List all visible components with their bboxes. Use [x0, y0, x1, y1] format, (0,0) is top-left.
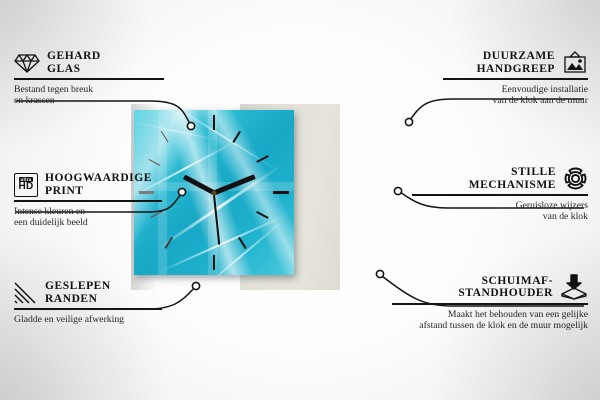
- feature-desc-line1: Eenvoudige installatie: [398, 84, 588, 95]
- leader-endpoint-schuimafstandhouder: [376, 270, 383, 277]
- feature-title: GEHARD: [47, 50, 101, 63]
- divider: [14, 200, 162, 202]
- feature-title: RANDEN: [45, 293, 111, 306]
- divider: [443, 78, 588, 80]
- feature-title: GESLEPEN: [45, 280, 111, 293]
- infographic-canvas: GEHARD GLAS Bestand tegen breuk en krass…: [0, 0, 600, 400]
- spacer-arrow-icon: [560, 274, 588, 300]
- feature-desc-line2: en krassen: [14, 95, 184, 106]
- clock-hub: [212, 190, 217, 195]
- feature-title: HANDGREEP: [477, 63, 555, 76]
- hour-tick: [213, 255, 215, 270]
- minor-tick: [238, 237, 246, 249]
- feature-title: GLAS: [47, 63, 101, 76]
- feather-streak: [134, 121, 219, 142]
- feature-title: HOOGWAARDIGE: [45, 172, 152, 185]
- ultra-hd-icon: ultraHD: [14, 173, 38, 197]
- leader-endpoint-duurzame-handgreep: [405, 118, 412, 125]
- leader-endpoint-stille-mechanisme: [394, 187, 401, 194]
- feature-title: DUURZAME: [477, 50, 555, 63]
- feature-desc-line2: afstand tussen de klok en de muur mogeli…: [392, 320, 588, 331]
- feature-stille-mechanisme: STILLE MECHANISME Geruisloze wijzers van…: [412, 166, 588, 222]
- bevelled-edge-icon: [14, 282, 38, 304]
- feature-desc-line1: Bestand tegen breuk: [14, 84, 184, 95]
- hour-tick: [273, 191, 289, 194]
- feature-geslepen-randen: GESLEPEN RANDEN Gladde en veilige afwerk…: [14, 280, 190, 325]
- feature-desc-line1: Intense kleuren en: [14, 206, 190, 217]
- picture-frame-icon: [562, 51, 588, 75]
- divider: [412, 194, 588, 196]
- feature-desc-line1: Maakt het behouden van een gelijke: [392, 309, 588, 320]
- feature-desc-line2: een duidelijk beeld: [14, 217, 190, 228]
- feature-desc-line1: Geruisloze wijzers: [412, 200, 588, 211]
- feature-duurzame-handgreep: DUURZAME HANDGREEP Eenvoudige installati…: [398, 50, 588, 106]
- feature-desc-line2: van de klok aan de muur: [398, 95, 588, 106]
- hour-tick: [213, 115, 215, 130]
- feature-title: SCHUIMAF-: [458, 275, 553, 288]
- gear-icon: [563, 166, 588, 191]
- divider: [14, 78, 164, 80]
- feature-title: PRINT: [45, 185, 152, 198]
- feature-schuimafstandhouder: SCHUIMAF- STANDHOUDER Maakt het behouden…: [392, 274, 588, 331]
- feature-desc-line2: van de klok: [412, 211, 588, 222]
- feature-gehard-glas: GEHARD GLAS Bestand tegen breuk en krass…: [14, 50, 184, 106]
- feature-title: MECHANISME: [469, 179, 556, 192]
- divider: [392, 303, 588, 305]
- minor-tick: [256, 211, 268, 219]
- diamond-icon: [14, 52, 40, 74]
- feature-hoogwaardige-print: ultraHD HOOGWAARDIGE PRINT Intense kleur…: [14, 172, 190, 228]
- divider: [14, 308, 162, 310]
- feature-title: STILLE: [469, 166, 556, 179]
- feature-desc-line1: Gladde en veilige afwerking: [14, 314, 190, 325]
- feature-title: STANDHOUDER: [458, 287, 553, 300]
